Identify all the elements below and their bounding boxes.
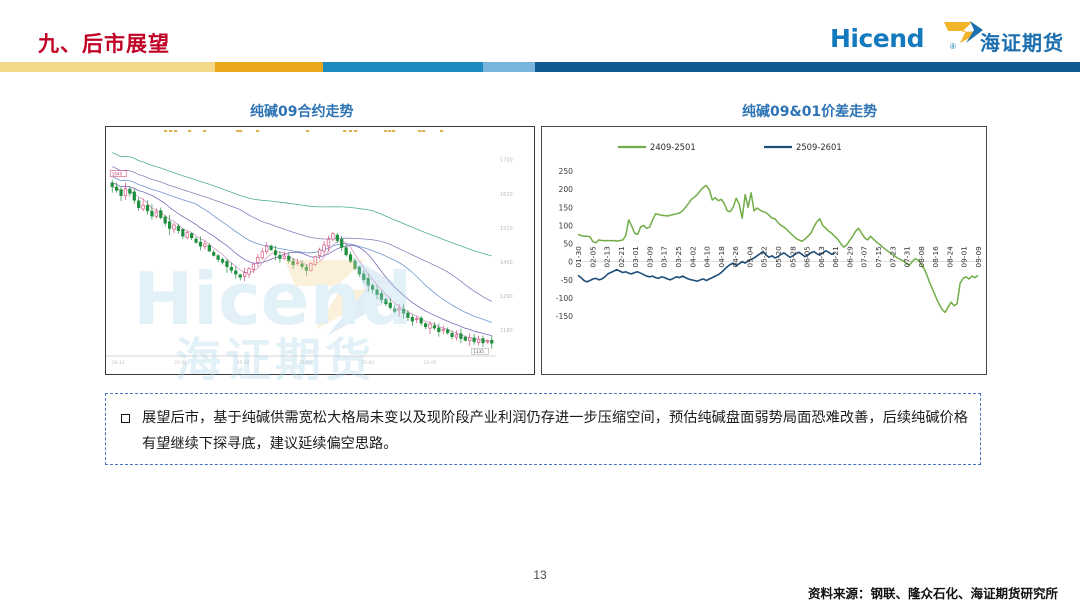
svg-text:-150: -150 xyxy=(556,312,573,321)
brand-mark: Hicend ® 海证期货 xyxy=(830,23,1062,57)
svg-text:250: 250 xyxy=(559,167,574,176)
svg-text:02-21: 02-21 xyxy=(617,246,626,268)
svg-text:25-05: 25-05 xyxy=(424,360,437,366)
page-title: 九、后市展望 xyxy=(38,28,170,58)
svg-text:1180: 1180 xyxy=(500,328,513,334)
svg-text:04-10: 04-10 xyxy=(703,246,712,268)
svg-text:03-01: 03-01 xyxy=(631,246,640,268)
header-color-rule xyxy=(0,62,1080,72)
chart-title-left: 纯碱09合约走势 xyxy=(250,101,353,121)
svg-text:02-05: 02-05 xyxy=(588,246,597,268)
rule-segment-1 xyxy=(0,62,215,72)
svg-text:-100: -100 xyxy=(556,294,573,303)
svg-text:2409-2501: 2409-2501 xyxy=(650,142,696,152)
svg-text:200: 200 xyxy=(559,185,574,194)
svg-text:06-29: 06-29 xyxy=(845,246,854,268)
svg-text:0: 0 xyxy=(568,258,573,267)
svg-text:25-03: 25-03 xyxy=(299,360,312,366)
svg-text:05-04: 05-04 xyxy=(745,246,754,268)
svg-text:07-23: 07-23 xyxy=(888,246,897,268)
svg-text:09-01: 09-01 xyxy=(960,246,969,268)
svg-text:05-28: 05-28 xyxy=(788,246,797,268)
svg-text:100: 100 xyxy=(559,221,574,230)
brand-name-en: Hicend xyxy=(830,24,924,53)
rule-segment-5 xyxy=(535,62,1080,72)
svg-text:1290: 1290 xyxy=(500,294,513,300)
svg-text:1730: 1730 xyxy=(500,158,513,164)
svg-text:07-07: 07-07 xyxy=(860,246,869,268)
chart-spread-panel: 2409-25012509-2601250200150100500-50-100… xyxy=(541,126,987,375)
svg-text:08-16: 08-16 xyxy=(931,246,940,268)
source-note: 资料来源：钢联、隆众石化、海证期货研究所 xyxy=(808,583,1058,602)
svg-text:25-01: 25-01 xyxy=(174,360,187,366)
svg-text:07-31: 07-31 xyxy=(903,246,912,268)
svg-text:1510: 1510 xyxy=(500,226,513,232)
svg-text:03-17: 03-17 xyxy=(660,246,669,268)
svg-text:06-05: 06-05 xyxy=(803,246,812,268)
svg-text:03-09: 03-09 xyxy=(645,246,654,268)
svg-text:50: 50 xyxy=(563,240,573,249)
svg-text:05-12: 05-12 xyxy=(760,246,769,267)
svg-text:06-21: 06-21 xyxy=(831,246,840,268)
svg-text:24-12: 24-12 xyxy=(112,360,125,366)
rule-segment-3 xyxy=(323,62,483,72)
svg-text:1135: 1135 xyxy=(473,349,484,354)
spread-line-chart: 2409-25012509-2601250200150100500-50-100… xyxy=(542,127,986,374)
svg-text:1400: 1400 xyxy=(500,260,513,266)
slide-header: 九、后市展望 Hicend ® 海证期货 xyxy=(0,0,1080,70)
outlook-callout: 展望后市，基于纯碱供需宽松大格局未变以及现阶段产业利润仍存进一步压缩空间，预估纯… xyxy=(105,393,981,465)
svg-text:04-18: 04-18 xyxy=(717,246,726,268)
brand-name-cn: 海证期货 xyxy=(980,27,1064,56)
svg-text:02-13: 02-13 xyxy=(603,246,612,268)
svg-text:-50: -50 xyxy=(561,276,574,285)
bullet-square-icon xyxy=(121,414,130,423)
svg-text:04-26: 04-26 xyxy=(731,246,740,268)
svg-text:05-20: 05-20 xyxy=(774,246,783,268)
svg-text:06-13: 06-13 xyxy=(817,246,826,268)
svg-text:150: 150 xyxy=(559,203,574,212)
rule-segment-4 xyxy=(483,62,535,72)
svg-text:25-04: 25-04 xyxy=(361,360,374,366)
page-number: 13 xyxy=(0,568,1080,582)
svg-text:04-02: 04-02 xyxy=(688,246,697,267)
svg-text:08-24: 08-24 xyxy=(945,246,954,268)
chart-title-right: 纯碱09&01价差走势 xyxy=(742,101,877,121)
svg-text:2509-2601: 2509-2601 xyxy=(796,142,842,152)
svg-text:1620: 1620 xyxy=(500,192,513,198)
rule-segment-2 xyxy=(215,62,323,72)
svg-text:07-15: 07-15 xyxy=(874,246,883,268)
svg-text:1640: 1640 xyxy=(112,171,123,176)
candlestick-chart: 1730162015101400129011801640113524-1225-… xyxy=(106,127,534,374)
chart-candlestick-panel: 1730162015101400129011801640113524-1225-… xyxy=(105,126,535,375)
svg-text:01-30: 01-30 xyxy=(574,246,583,268)
svg-text:08-08: 08-08 xyxy=(917,246,926,268)
outlook-text: 展望后市，基于纯碱供需宽松大格局未变以及现阶段产业利润仍存进一步压缩空间，预估纯… xyxy=(142,405,968,457)
svg-text:25-02: 25-02 xyxy=(237,360,250,366)
arrow-icon xyxy=(942,19,984,45)
svg-text:03-25: 03-25 xyxy=(674,246,683,268)
brand-logo: Hicend ® 海证期货 xyxy=(830,22,1062,58)
svg-text:09-09: 09-09 xyxy=(974,246,983,268)
